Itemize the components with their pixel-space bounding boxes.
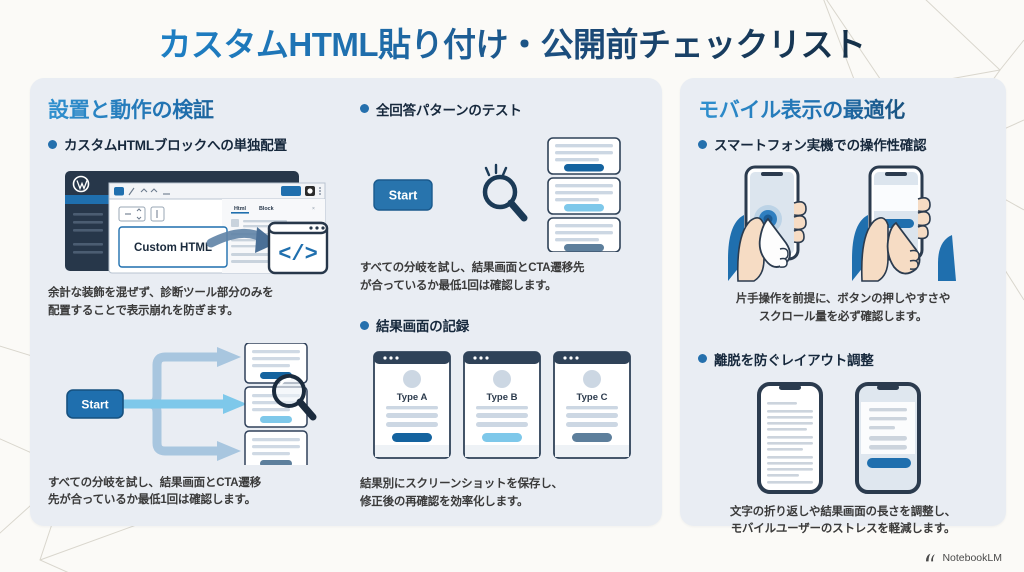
notebooklm-logo-icon	[924, 551, 937, 564]
art-branch-flow-diagram: Start	[48, 343, 344, 465]
result-card	[548, 218, 620, 252]
start-button-label: Start	[81, 397, 108, 411]
phone-optimized-layout	[857, 384, 919, 492]
svg-text:Html: Html	[234, 206, 246, 212]
title-container: カスタムHTML貼り付け・公開前チェックリスト	[0, 0, 1024, 66]
bullet-dot-icon	[48, 140, 57, 149]
caption-branch-flow: すべての分岐を試し、結果画面とCTA遷移 先が合っているか最低1回は確認します。	[48, 475, 344, 511]
left-column-b: 全回答パターンのテスト Start	[360, 94, 644, 512]
subheading-layout-adjustment: 離脱を防ぐレイアウト調整	[698, 349, 988, 369]
magnifier-search-icon	[485, 165, 524, 218]
bullet-dot-icon	[360, 321, 369, 330]
type-screen-a: Type A	[374, 352, 450, 458]
type-label-b: Type B	[487, 392, 518, 403]
type-label-a: Type A	[397, 392, 428, 403]
caption-all-answer-patterns: すべての分岐を試し、結果画面とCTA遷移先 が合っているか最低1回は確認します。	[360, 260, 644, 296]
panel-installation-verification: 設置と動作の検証 カスタムHTMLブロックへの単独配置	[30, 78, 662, 526]
result-card	[548, 138, 620, 174]
caption-smartphone-check: 片手操作を前提に、ボタンの押しやすさや スクロール量を必ず確認します。	[698, 291, 988, 327]
art-start-magnifier-cards: Start	[360, 130, 644, 252]
caption-custom-html-block: 余計な装飾を混ぜず、診断ツール部分のみを 配置することで表示崩れを防ぎます。	[48, 285, 344, 321]
subheading-custom-html-block: カスタムHTMLブロックへの単独配置	[48, 134, 344, 154]
subheading-label: 結果画面の記録	[376, 315, 469, 335]
panel-mobile-optimization: モバイル表示の最適化 スマートフォン実機での操作性確認	[680, 78, 1006, 526]
result-card	[245, 431, 307, 465]
caption-result-screen-record: 結果別にスクリーンショットを保存し、 修正後の再確認を効率化します。	[360, 476, 644, 512]
type-screen-c: Type C	[554, 352, 630, 458]
bullet-dot-icon	[698, 140, 707, 149]
svg-text:Block: Block	[259, 206, 274, 212]
subheading-label: カスタムHTMLブロックへの単独配置	[64, 134, 287, 154]
svg-text:×: ×	[312, 206, 315, 212]
custom-html-label: Custom HTML	[134, 242, 212, 254]
subheading-label: スマートフォン実機での操作性確認	[714, 134, 926, 154]
result-card	[548, 178, 620, 214]
type-label-c: Type C	[577, 392, 608, 403]
subheading-result-screen-record: 結果画面の記録	[360, 315, 644, 335]
subheading-label: 離脱を防ぐレイアウト調整	[714, 349, 874, 369]
art-hands-holding-phones	[698, 163, 988, 283]
start-button-label: Start	[389, 188, 418, 202]
bullet-dot-icon	[360, 104, 369, 113]
subheading-label: 全回答パターンのテスト	[376, 99, 522, 119]
art-phone-layout-comparison	[698, 378, 988, 496]
panels-row: 設置と動作の検証 カスタムHTMLブロックへの単独配置	[0, 66, 1024, 526]
caption-layout-adjustment: 文字の折り返しや結果画面の長さを調整し、 モバイルユーザーのストレスを軽減します…	[698, 504, 988, 540]
subheading-smartphone-check: スマートフォン実機での操作性確認	[698, 134, 988, 154]
art-type-screens: Type A Type B	[360, 346, 644, 464]
page-title: カスタムHTML貼り付け・公開前チェックリスト	[158, 18, 865, 66]
brand-label: NotebookLM	[942, 552, 1002, 564]
phone-dense-layout	[759, 384, 821, 492]
left-column-a: 設置と動作の検証 カスタムHTMLブロックへの単独配置	[48, 94, 344, 512]
art-wordpress-editor-mockup: Html Block ×	[48, 165, 344, 277]
subheading-all-answer-patterns: 全回答パターンのテスト	[360, 99, 644, 119]
code-icon: </>	[278, 242, 318, 267]
bullet-dot-icon	[698, 354, 707, 363]
section-heading-left: 設置と動作の検証	[48, 94, 344, 124]
section-heading-right: モバイル表示の最適化	[698, 94, 988, 124]
infographic-page: カスタムHTML貼り付け・公開前チェックリスト 設置と動作の検証 カスタムHTM…	[0, 0, 1024, 572]
footer-brand: NotebookLM	[924, 551, 1002, 564]
type-screen-b: Type B	[464, 352, 540, 458]
